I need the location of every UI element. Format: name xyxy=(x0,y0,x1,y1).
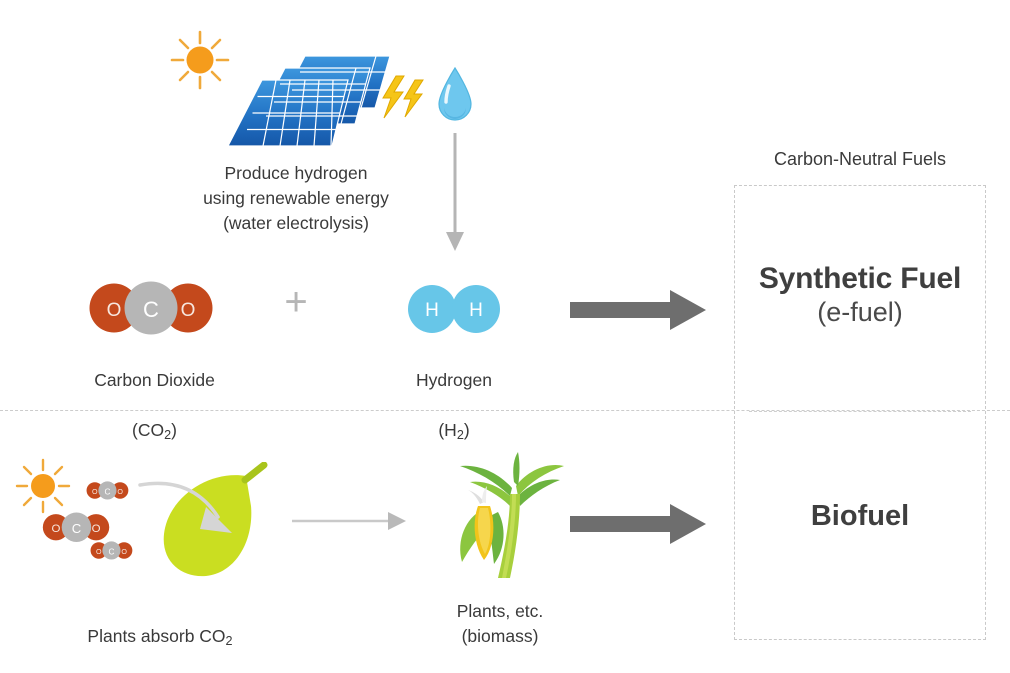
h2-formula-suffix: ) xyxy=(464,420,470,440)
carbon-neutral-fuels-title: Carbon-Neutral Fuels xyxy=(734,149,986,170)
diagram-canvas: O O C + H H Produce hydrogen using renew… xyxy=(0,0,1010,673)
photosynthesis-caption-sub: 2 xyxy=(226,634,233,648)
co2-molecule-icon: O O C xyxy=(88,277,214,339)
right-arrow-icon[interactable] xyxy=(570,502,708,546)
photosynthesis-caption-prefix: Plants absorb CO xyxy=(87,626,225,646)
co2-formula-prefix: (CO xyxy=(132,420,164,440)
svg-text:O: O xyxy=(51,523,60,535)
svg-text:H: H xyxy=(425,300,439,321)
hydrogen-caption: Hydrogen (H2) xyxy=(378,343,530,448)
curved-arrow-icon xyxy=(138,477,250,549)
hydrogen-molecule-icon: H H xyxy=(406,283,502,335)
svg-text:C: C xyxy=(72,521,81,536)
h2-formula-prefix: (H xyxy=(438,420,456,440)
h2-formula-sub: 2 xyxy=(457,428,464,442)
svg-text:C: C xyxy=(143,297,159,322)
down-arrow-icon xyxy=(443,133,467,255)
synthetic-fuel-line1: Synthetic Fuel xyxy=(734,262,986,296)
co2-name: Carbon Dioxide xyxy=(94,370,215,390)
panel-split-divider xyxy=(749,411,971,412)
plus-sign: + xyxy=(277,284,315,322)
biofuel-label: Biofuel xyxy=(734,500,986,533)
right-arrow-icon[interactable] xyxy=(570,288,708,332)
corn-plant-icon xyxy=(440,452,570,582)
right-arrow-icon[interactable] xyxy=(290,508,408,534)
synthetic-fuel-label: Synthetic Fuel (e-fuel) xyxy=(734,262,986,328)
svg-text:O: O xyxy=(181,300,196,321)
hydrogen-name: Hydrogen xyxy=(416,370,492,390)
water-drop-icon xyxy=(435,66,475,124)
svg-text:O: O xyxy=(121,548,127,556)
synthetic-fuel-line2: (e-fuel) xyxy=(734,297,986,328)
svg-text:O: O xyxy=(92,488,98,496)
co2-caption: Carbon Dioxide (CO2) xyxy=(52,343,257,448)
svg-text:O: O xyxy=(107,300,122,321)
solar-caption: Produce hydrogen using renewable energy … xyxy=(178,161,414,236)
carbon-neutral-fuels-box xyxy=(734,185,986,640)
photosynthesis-caption: Plants absorb CO2 (photosynthesis) xyxy=(48,599,272,673)
svg-text:O: O xyxy=(92,523,101,535)
svg-text:C: C xyxy=(108,547,114,556)
svg-text:H: H xyxy=(469,300,483,321)
svg-text:O: O xyxy=(117,488,123,496)
biomass-caption: Plants, etc. (biomass) xyxy=(400,599,600,649)
svg-text:C: C xyxy=(104,487,110,496)
lightning-bolt-icon xyxy=(378,72,430,124)
co2-formula-suffix: ) xyxy=(171,420,177,440)
svg-text:O: O xyxy=(96,548,102,556)
